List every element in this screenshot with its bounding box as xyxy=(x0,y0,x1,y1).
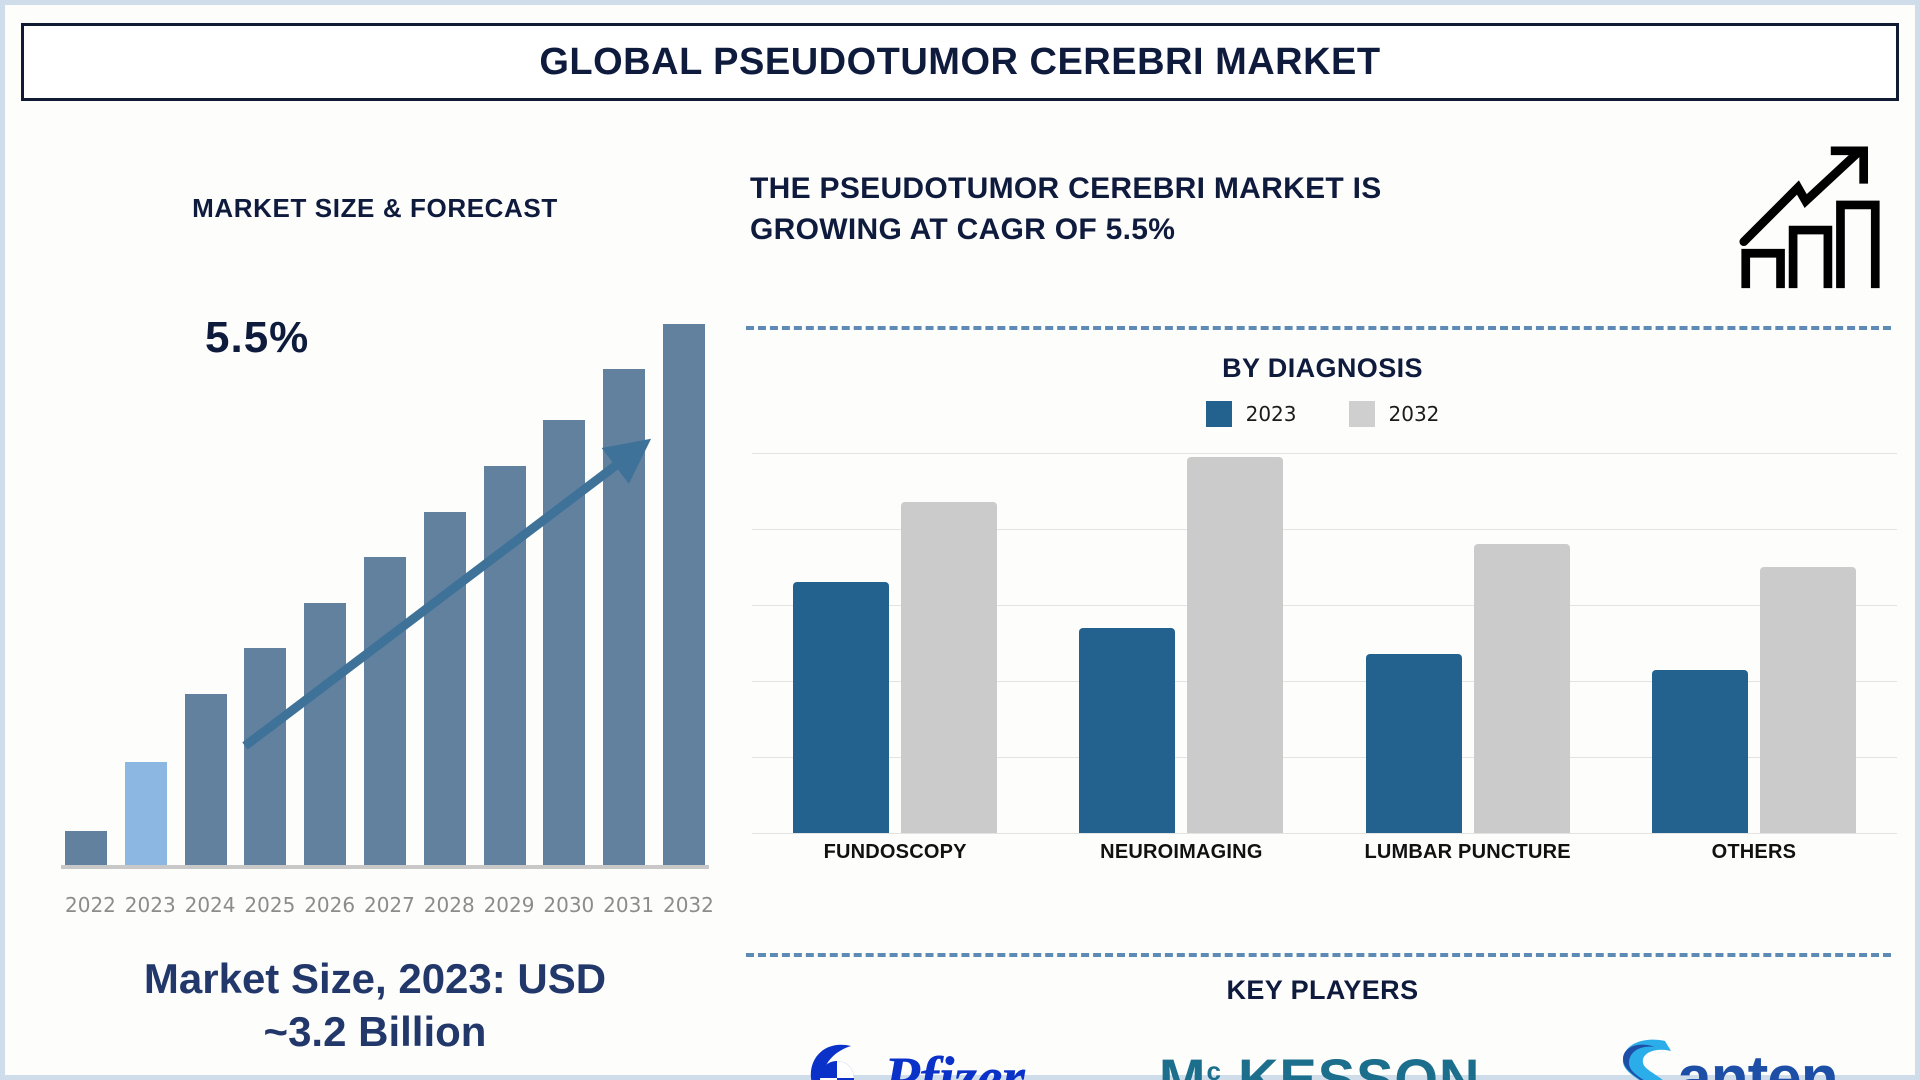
by-diagnosis-title: BY DIAGNOSIS xyxy=(740,353,1905,384)
santen-s-mark-icon xyxy=(1615,1035,1677,1080)
year-label: 2027 xyxy=(364,893,406,917)
key-players-logos: Pfizer McKESSON anten xyxy=(740,1018,1905,1080)
market-size-line-2: ~3.2 Billion xyxy=(264,1008,487,1055)
bar-lumbar-puncture-2023 xyxy=(1366,654,1462,833)
pfizer-wordmark: Pfizer xyxy=(883,1044,1024,1080)
market-size-forecast-panel: MARKET SIZE & FORECAST 5.5% 2022 2023 xyxy=(25,113,725,1059)
growth-statement-line-1: THE PSEUDOTUMOR CEREBRI MARKET IS xyxy=(750,172,1382,205)
pfizer-mark-icon xyxy=(807,1036,877,1080)
bar-column-2032 xyxy=(663,295,705,865)
bar-2028 xyxy=(424,512,466,865)
bar-group-lumbar-puncture xyxy=(1343,453,1593,833)
bar-group-others xyxy=(1629,453,1879,833)
year-label: 2029 xyxy=(484,893,526,917)
bar-2032 xyxy=(663,324,705,866)
market-size-line-1: Market Size, 2023: USD xyxy=(144,955,606,1002)
bar-column-2025 xyxy=(244,295,286,865)
year-label: 2026 xyxy=(304,893,346,917)
key-players-title: KEY PLAYERS xyxy=(740,975,1905,1006)
diagnosis-legend: 2023 2032 xyxy=(740,401,1905,427)
bar-fundoscopy-2023 xyxy=(793,582,889,833)
divider-top xyxy=(746,326,1891,330)
page-title: GLOBAL PSEUDOTUMOR CEREBRI MARKET xyxy=(539,41,1380,84)
bar-column-2023 xyxy=(125,295,167,865)
bar-column-2027 xyxy=(364,295,406,865)
bar-column-2024 xyxy=(185,295,227,865)
bar-others-2023 xyxy=(1652,670,1748,833)
year-label: 2022 xyxy=(65,893,107,917)
logo-pfizer: Pfizer xyxy=(807,1036,1024,1080)
year-axis-labels: 2022 2023 2024 2025 2026 2027 2028 2029 … xyxy=(65,893,705,917)
infographic-page: GLOBAL PSEUDOTUMOR CEREBRI MARKET MARKET… xyxy=(0,0,1920,1080)
bar-2022 xyxy=(65,831,107,865)
legend-item-2023: 2023 xyxy=(1206,401,1297,427)
logo-mckesson: McKESSON xyxy=(1159,1046,1481,1080)
category-label-others: OTHERS xyxy=(1629,841,1879,864)
bar-column-2028 xyxy=(424,295,466,865)
bar-group-fundoscopy xyxy=(770,453,1020,833)
diagnosis-category-labels: FUNDOSCOPY NEUROIMAGING LUMBAR PUNCTURE … xyxy=(752,841,1897,864)
bar-fundoscopy-2032 xyxy=(901,502,997,833)
legend-label-2032: 2032 xyxy=(1389,402,1440,426)
bar-column-2030 xyxy=(543,295,585,865)
mckesson-m: M xyxy=(1159,1046,1207,1080)
bar-2030 xyxy=(543,420,585,865)
bar-2024 xyxy=(185,694,227,865)
growth-chart-arrow-icon xyxy=(1738,145,1883,290)
legend-swatch-2032-icon xyxy=(1349,401,1375,427)
divider-bottom xyxy=(746,953,1891,957)
year-label: 2031 xyxy=(603,893,645,917)
gridline xyxy=(752,833,1897,834)
bar-column-2031 xyxy=(603,295,645,865)
legend-swatch-2023-icon xyxy=(1206,401,1232,427)
category-label-neuroimaging: NEUROIMAGING xyxy=(1056,841,1306,864)
bar-2026 xyxy=(304,603,346,865)
year-label: 2023 xyxy=(125,893,167,917)
bar-neuroimaging-2023 xyxy=(1079,628,1175,833)
mckesson-rest: KESSON xyxy=(1238,1046,1481,1080)
forecast-bars xyxy=(65,295,705,865)
santen-wordmark: anten xyxy=(1677,1043,1837,1080)
bar-column-2026 xyxy=(304,295,346,865)
bar-neuroimaging-2032 xyxy=(1187,457,1283,833)
year-label: 2030 xyxy=(543,893,585,917)
bar-2027 xyxy=(364,557,406,865)
right-panel: THE PSEUDOTUMOR CEREBRI MARKET IS GROWIN… xyxy=(740,113,1905,1059)
bar-2029 xyxy=(484,466,526,865)
year-label: 2024 xyxy=(185,893,227,917)
year-label: 2028 xyxy=(424,893,466,917)
category-label-fundoscopy: FUNDOSCOPY xyxy=(770,841,1020,864)
bar-column-2029 xyxy=(484,295,526,865)
year-label: 2025 xyxy=(244,893,286,917)
bar-2023 xyxy=(125,762,167,865)
logo-santen: anten xyxy=(1615,1035,1837,1080)
growth-statement: THE PSEUDOTUMOR CEREBRI MARKET IS GROWIN… xyxy=(750,168,1650,251)
diagnosis-bar-groups xyxy=(752,453,1897,833)
market-size-heading: MARKET SIZE & FORECAST xyxy=(25,193,725,224)
bar-others-2032 xyxy=(1760,567,1856,833)
market-forecast-bar-chart: 2022 2023 2024 2025 2026 2027 2028 2029 … xyxy=(53,263,703,943)
mckesson-wordmark: McKESSON xyxy=(1159,1046,1481,1080)
bar-group-neuroimaging xyxy=(1056,453,1306,833)
legend-item-2032: 2032 xyxy=(1349,401,1440,427)
bar-column-2022 xyxy=(65,295,107,865)
x-axis-line xyxy=(61,865,709,869)
year-label: 2032 xyxy=(663,893,705,917)
title-box: GLOBAL PSEUDOTUMOR CEREBRI MARKET xyxy=(21,23,1899,101)
bar-2025 xyxy=(244,648,286,865)
mckesson-superscript-c: c xyxy=(1206,1056,1221,1080)
growth-statement-line-2: GROWING AT CAGR OF 5.5% xyxy=(750,213,1175,246)
bar-2031 xyxy=(603,369,645,865)
legend-label-2023: 2023 xyxy=(1246,402,1297,426)
bar-lumbar-puncture-2032 xyxy=(1474,544,1570,833)
market-size-value: Market Size, 2023: USD ~3.2 Billion xyxy=(25,953,725,1058)
category-label-lumbar-puncture: LUMBAR PUNCTURE xyxy=(1343,841,1593,864)
by-diagnosis-bar-chart: FUNDOSCOPY NEUROIMAGING LUMBAR PUNCTURE … xyxy=(740,443,1905,903)
